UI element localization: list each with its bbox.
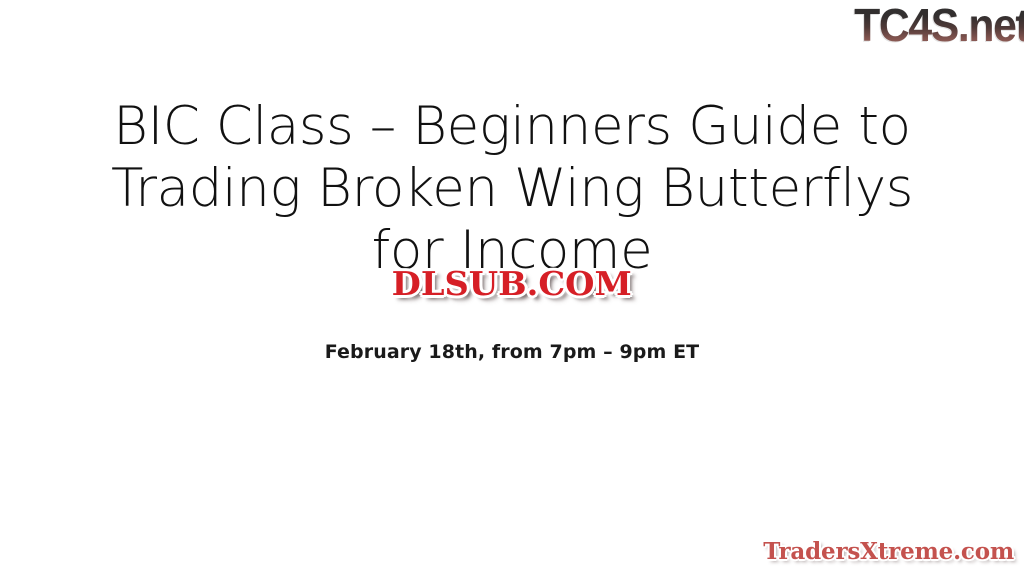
page-title: BIC Class – Beginners Guide to Trading B…: [0, 96, 1024, 282]
subtitle: February 18th, from 7pm – 9pm ET: [0, 340, 1024, 364]
presentation-slide: TC4S.net TC4S.net BIC Class – Beginners …: [0, 0, 1024, 576]
tc4s-net-watermark: TC4S.net: [854, 0, 1024, 52]
title-line-3: for Income: [0, 220, 1024, 282]
session-date-time: February 18th, from 7pm – 9pm ET: [325, 341, 700, 363]
title-line-2: Trading Broken Wing Butterflys: [0, 158, 1024, 220]
tradersxtreme-com-watermark: TradersXtreme.com: [761, 538, 1016, 566]
tradersxtreme-watermark-container: TradersXtreme.com: [761, 538, 1016, 566]
title-line-1: BIC Class – Beginners Guide to: [0, 96, 1024, 158]
